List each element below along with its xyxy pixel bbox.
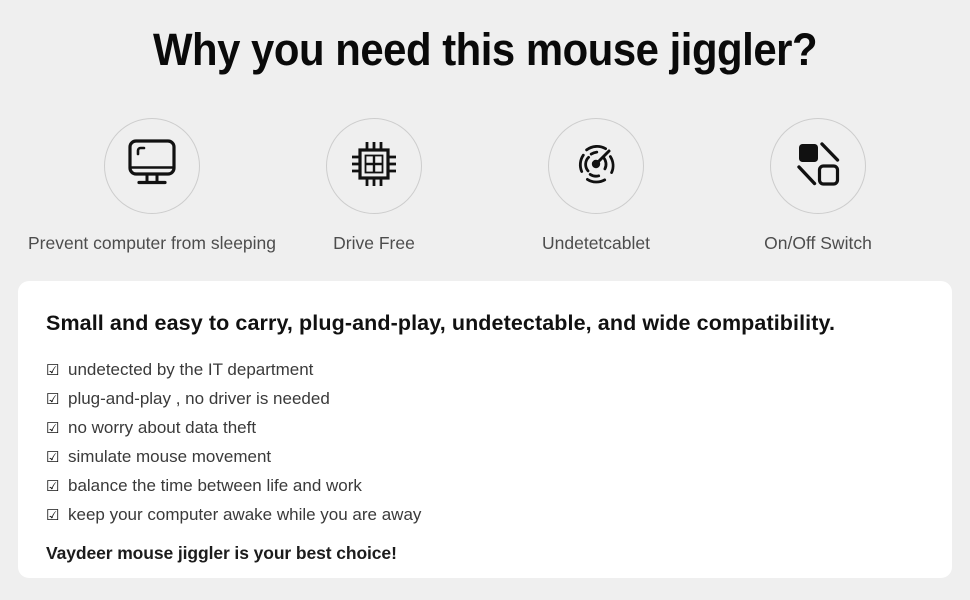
icon-circle xyxy=(104,118,200,214)
feature-row: Prevent computer from sleeping Drive F xyxy=(0,118,970,254)
on-off-switch-icon xyxy=(791,138,845,195)
checkbox-checked-icon: ☑ xyxy=(46,473,68,501)
benefit-list: ☑ undetected by the IT department ☑ plug… xyxy=(46,356,924,530)
list-item-label: simulate mouse movement xyxy=(68,443,271,471)
card-heading: Small and easy to carry, plug-and-play, … xyxy=(46,311,924,336)
list-item: ☑ balance the time between life and work xyxy=(46,472,924,501)
checkbox-checked-icon: ☑ xyxy=(46,415,68,443)
checkbox-checked-icon: ☑ xyxy=(46,444,68,472)
list-item-label: balance the time between life and work xyxy=(68,472,362,500)
list-item: ☑ keep your computer awake while you are… xyxy=(46,501,924,530)
feature-item-undetectable: Undetetcablet xyxy=(490,118,702,254)
feature-label: Prevent computer from sleeping xyxy=(28,233,276,254)
icon-circle xyxy=(326,118,422,214)
cpu-chip-icon xyxy=(347,137,401,196)
list-item: ☑ simulate mouse movement xyxy=(46,443,924,472)
checkbox-checked-icon: ☑ xyxy=(46,386,68,414)
feature-item-prevent-sleeping: Prevent computer from sleeping xyxy=(46,118,258,254)
radar-signal-icon xyxy=(568,136,624,197)
feature-item-drive-free: Drive Free xyxy=(268,118,480,254)
list-item-label: undetected by the IT department xyxy=(68,356,313,384)
list-item-label: no worry about data theft xyxy=(68,414,256,442)
details-card: Small and easy to carry, plug-and-play, … xyxy=(18,281,952,578)
list-item: ☑ plug-and-play , no driver is needed xyxy=(46,385,924,414)
monitor-icon xyxy=(124,137,180,196)
list-item-label: plug-and-play , no driver is needed xyxy=(68,385,330,413)
feature-label: On/Off Switch xyxy=(764,233,872,254)
feature-label: Drive Free xyxy=(333,233,415,254)
page-title: Why you need this mouse jiggler? xyxy=(34,24,936,76)
feature-item-on-off-switch: On/Off Switch xyxy=(712,118,924,254)
icon-circle xyxy=(548,118,644,214)
list-item: ☑ undetected by the IT department xyxy=(46,356,924,385)
closing-statement: Vaydeer mouse jiggler is your best choic… xyxy=(46,543,924,564)
list-item-label: keep your computer awake while you are a… xyxy=(68,501,421,529)
checkbox-checked-icon: ☑ xyxy=(46,502,68,530)
list-item: ☑ no worry about data theft xyxy=(46,414,924,443)
feature-label: Undetetcablet xyxy=(542,233,650,254)
icon-circle xyxy=(770,118,866,214)
promo-page: Why you need this mouse jiggler? Prevent… xyxy=(0,0,970,600)
checkbox-checked-icon: ☑ xyxy=(46,357,68,385)
